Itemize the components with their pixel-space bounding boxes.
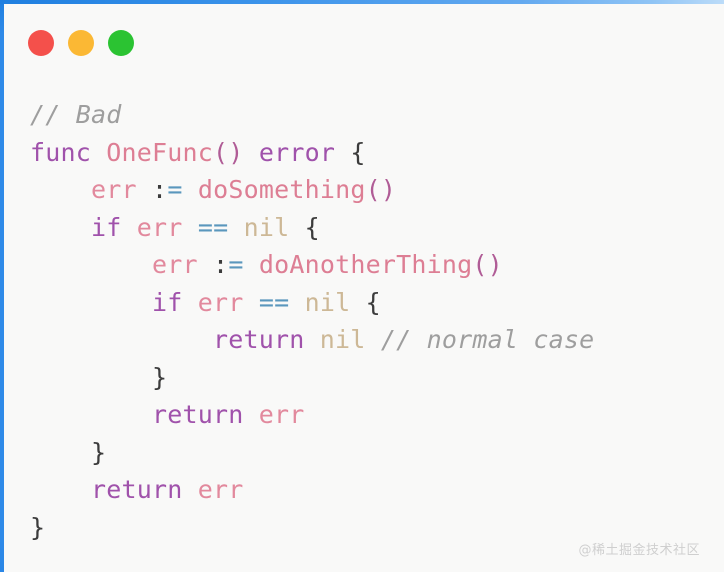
code-token-punct xyxy=(244,138,259,167)
code-token-punct xyxy=(366,325,381,354)
code-token-punct: } xyxy=(91,438,106,467)
code-token-keyword: if xyxy=(152,288,183,317)
code-token-punct xyxy=(198,250,213,279)
code-token-punct: } xyxy=(152,363,167,392)
minimize-button-icon[interactable] xyxy=(68,30,94,56)
code-token-keyword: return xyxy=(91,475,183,504)
window-titlebar xyxy=(4,4,724,70)
code-line: err := doSomething() xyxy=(30,171,720,209)
code-line: } xyxy=(30,359,720,397)
code-token-op: == xyxy=(198,213,229,242)
code-token-punct xyxy=(228,213,243,242)
code-token-op: = xyxy=(167,175,182,204)
code-token-punct xyxy=(289,288,304,317)
code-token-const: nil xyxy=(320,325,366,354)
code-token-punct: { xyxy=(350,138,365,167)
code-token-func: doSomething xyxy=(198,175,366,204)
code-token-op: = xyxy=(228,250,243,279)
code-token-keyword: error xyxy=(259,138,335,167)
code-token-punct xyxy=(91,138,106,167)
code-token-punct xyxy=(244,250,259,279)
code-area: // Badfunc OneFunc() error { err := doSo… xyxy=(4,70,720,568)
code-block: // Badfunc OneFunc() error { err := doSo… xyxy=(30,96,720,546)
code-token-punct: } xyxy=(30,513,45,542)
traffic-light-group xyxy=(28,30,134,56)
code-line: err := doAnotherThing() xyxy=(30,246,720,284)
code-token-punct xyxy=(183,213,198,242)
code-token-punct: : xyxy=(152,175,167,204)
code-snippet-window: // Badfunc OneFunc() error { err := doSo… xyxy=(0,0,724,572)
code-token-ident: err xyxy=(198,288,244,317)
code-token-punct xyxy=(244,400,259,429)
code-token-ident: err xyxy=(198,475,244,504)
code-token-punct xyxy=(122,213,137,242)
code-line: return nil // normal case xyxy=(30,321,720,359)
code-token-punct xyxy=(183,475,198,504)
code-line: func OneFunc() error { xyxy=(30,134,720,172)
code-line: return err xyxy=(30,471,720,509)
maximize-button-icon[interactable] xyxy=(108,30,134,56)
code-token-paren: () xyxy=(213,138,244,167)
code-token-punct xyxy=(289,213,304,242)
code-token-punct: { xyxy=(305,213,320,242)
code-line: } xyxy=(30,434,720,472)
code-token-ident: err xyxy=(137,213,183,242)
code-token-punct: : xyxy=(213,250,228,279)
code-token-punct xyxy=(183,175,198,204)
watermark: @稀土掘金技术社区 xyxy=(578,539,700,558)
code-token-comment: // normal case xyxy=(381,325,595,354)
code-token-func: doAnotherThing xyxy=(259,250,473,279)
code-token-const: nil xyxy=(305,288,351,317)
code-token-punct xyxy=(350,288,365,317)
code-token-paren: () xyxy=(472,250,503,279)
code-line: return err xyxy=(30,396,720,434)
code-token-func: OneFunc xyxy=(106,138,213,167)
code-token-keyword: return xyxy=(213,325,305,354)
code-token-op: == xyxy=(259,288,290,317)
code-token-ident: err xyxy=(91,175,137,204)
code-token-paren: () xyxy=(366,175,397,204)
code-line: // Bad xyxy=(30,96,720,134)
code-token-punct xyxy=(137,175,152,204)
close-button-icon[interactable] xyxy=(28,30,54,56)
code-token-comment: // Bad xyxy=(30,100,122,129)
code-token-punct xyxy=(305,325,320,354)
code-token-keyword: func xyxy=(30,138,91,167)
code-token-keyword: return xyxy=(152,400,244,429)
code-token-const: nil xyxy=(244,213,290,242)
code-token-punct xyxy=(335,138,350,167)
code-line: if err == nil { xyxy=(30,284,720,322)
code-token-ident: err xyxy=(259,400,305,429)
code-token-punct xyxy=(183,288,198,317)
code-line: if err == nil { xyxy=(30,209,720,247)
code-token-ident: err xyxy=(152,250,198,279)
code-token-punct: { xyxy=(366,288,381,317)
code-token-keyword: if xyxy=(91,213,122,242)
code-token-punct xyxy=(244,288,259,317)
